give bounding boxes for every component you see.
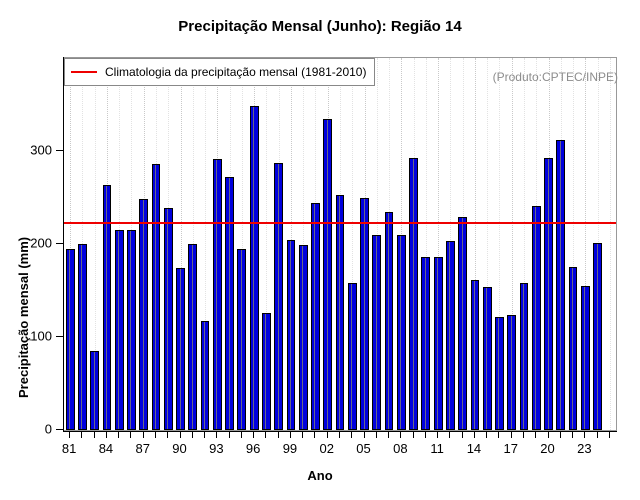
- y-tick: [56, 243, 63, 244]
- x-tick: [548, 431, 549, 438]
- x-tick: [486, 431, 487, 438]
- bar: [569, 267, 578, 430]
- bar: [421, 257, 430, 430]
- x-tick: [560, 431, 561, 438]
- bar: [287, 240, 296, 430]
- bar: [593, 243, 602, 430]
- bar: [581, 286, 590, 430]
- x-tick: [376, 431, 377, 438]
- bar: [336, 195, 345, 430]
- chart-title: Precipitação Mensal (Junho): Região 14: [0, 18, 640, 35]
- bar: [495, 317, 504, 430]
- x-tick: [462, 431, 463, 438]
- x-tick: [474, 431, 475, 438]
- bar: [262, 313, 271, 430]
- bar: [152, 164, 161, 430]
- bar: [471, 280, 480, 430]
- x-tick: [425, 431, 426, 438]
- x-tick: [449, 431, 450, 438]
- plot-area: [63, 57, 617, 431]
- bar: [90, 351, 99, 430]
- y-axis-title: Precipitação mensal (mm): [16, 237, 31, 398]
- x-tick: [94, 431, 95, 438]
- x-tick: [106, 431, 107, 438]
- x-tick: [265, 431, 266, 438]
- x-tick: [413, 431, 414, 438]
- bar: [250, 106, 259, 430]
- bar: [299, 245, 308, 430]
- x-tick-label: 99: [283, 441, 297, 456]
- x-tick: [535, 431, 536, 438]
- x-tick: [597, 431, 598, 438]
- x-tick-label: 23: [577, 441, 591, 456]
- x-tick-label: 81: [62, 441, 76, 456]
- legend-label: Climatologia da precipitação mensal (198…: [105, 65, 366, 79]
- bar: [483, 287, 492, 430]
- x-tick-label: 90: [172, 441, 186, 456]
- climatology-reference-line: [64, 222, 616, 224]
- y-tick-label: 200: [30, 236, 52, 251]
- y-tick: [56, 336, 63, 337]
- bar: [372, 235, 381, 430]
- bar: [446, 241, 455, 430]
- product-annotation: (Produto:CPTEC/INPE): [493, 70, 618, 84]
- legend: Climatologia da precipitação mensal (198…: [64, 58, 375, 86]
- bar: [360, 198, 369, 430]
- x-tick: [143, 431, 144, 438]
- x-axis-title: Ano: [0, 468, 640, 483]
- bar: [139, 199, 148, 430]
- bar: [434, 257, 443, 430]
- legend-line-swatch: [71, 71, 97, 73]
- x-tick: [511, 431, 512, 438]
- x-tick: [155, 431, 156, 438]
- bar: [323, 119, 332, 430]
- x-tick: [609, 431, 610, 438]
- bar: [225, 177, 234, 430]
- x-tick: [523, 431, 524, 438]
- x-tick: [339, 431, 340, 438]
- bar: [66, 249, 75, 430]
- x-tick: [351, 431, 352, 438]
- x-tick-label: 87: [135, 441, 149, 456]
- bar: [274, 163, 283, 430]
- bar: [176, 268, 185, 430]
- x-tick: [81, 431, 82, 438]
- x-tick: [437, 431, 438, 438]
- y-tick: [56, 150, 63, 151]
- bar: [409, 158, 418, 430]
- x-tick: [241, 431, 242, 438]
- x-tick: [584, 431, 585, 438]
- bar: [311, 203, 320, 430]
- bar: [213, 159, 222, 430]
- bar: [385, 212, 394, 430]
- x-tick: [302, 431, 303, 438]
- x-tick: [167, 431, 168, 438]
- x-tick-label: 96: [246, 441, 260, 456]
- bar: [532, 206, 541, 430]
- gridline-minor: [610, 58, 611, 430]
- bar: [237, 249, 246, 430]
- x-tick: [498, 431, 499, 438]
- x-tick-label: 08: [393, 441, 407, 456]
- plot-inner: [64, 58, 616, 430]
- x-tick: [204, 431, 205, 438]
- bar: [201, 321, 210, 430]
- bar: [507, 315, 516, 430]
- x-tick: [290, 431, 291, 438]
- bar: [127, 230, 136, 430]
- x-tick: [327, 431, 328, 438]
- x-tick-label: 93: [209, 441, 223, 456]
- x-tick: [400, 431, 401, 438]
- y-tick-label: 300: [30, 143, 52, 158]
- bar: [556, 140, 565, 430]
- x-tick: [253, 431, 254, 438]
- x-tick: [229, 431, 230, 438]
- bar: [164, 208, 173, 430]
- x-tick: [192, 431, 193, 438]
- bar: [397, 235, 406, 430]
- bar: [188, 244, 197, 430]
- y-tick-label: 0: [45, 422, 52, 437]
- x-tick: [69, 431, 70, 438]
- x-tick: [364, 431, 365, 438]
- bar: [78, 244, 87, 430]
- bar: [520, 283, 529, 430]
- y-tick: [56, 429, 63, 430]
- x-tick: [388, 431, 389, 438]
- x-tick-label: 02: [319, 441, 333, 456]
- bar: [458, 217, 467, 430]
- x-tick: [216, 431, 217, 438]
- y-tick-label: 100: [30, 329, 52, 344]
- x-tick-label: 84: [99, 441, 113, 456]
- y-axis: 0100200300: [63, 57, 64, 431]
- x-tick-label: 05: [356, 441, 370, 456]
- bar: [348, 283, 357, 430]
- x-tick: [278, 431, 279, 438]
- x-tick: [180, 431, 181, 438]
- x-tick: [572, 431, 573, 438]
- x-tick: [118, 431, 119, 438]
- x-tick-label: 14: [467, 441, 481, 456]
- precipitation-bar-chart: Precipitação Mensal (Junho): Região 14 0…: [0, 0, 640, 500]
- x-tick-label: 17: [503, 441, 517, 456]
- bar: [544, 158, 553, 430]
- bar: [115, 230, 124, 430]
- x-axis: 818487909396990205081114172023: [63, 431, 617, 432]
- x-tick: [314, 431, 315, 438]
- x-tick: [130, 431, 131, 438]
- x-tick-label: 11: [430, 441, 444, 456]
- x-tick-label: 20: [540, 441, 554, 456]
